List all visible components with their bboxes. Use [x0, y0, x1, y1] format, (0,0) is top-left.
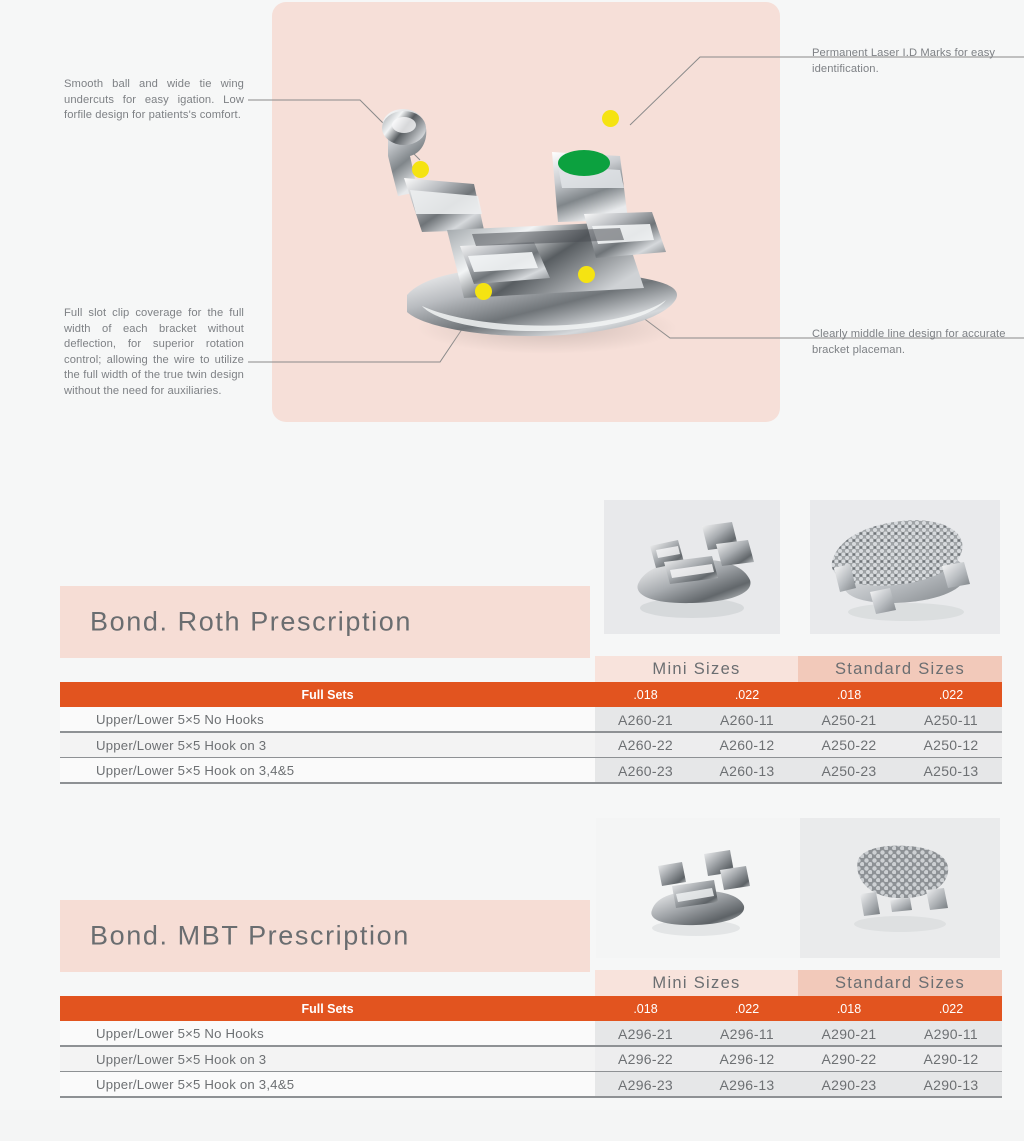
cell-std-018: A250-21	[798, 707, 900, 733]
callout-full-slot-clip: Full slot clip coverage for the full wid…	[64, 306, 244, 399]
group-header-standard: Standard Sizes	[798, 656, 1002, 682]
photo-bracket-front-roth	[604, 500, 780, 634]
col-header-full-sets: Full Sets	[60, 996, 595, 1021]
photo-bracket-front-mbt	[596, 818, 800, 958]
photo-bracket-mesh-base-roth	[810, 500, 1000, 634]
hotspot-dot-smooth-ball	[412, 161, 429, 178]
table-column-header-row: Full Sets .018 .022 .018 .022	[60, 996, 1002, 1021]
section-title-bond-roth: Bond. Roth Prescription	[90, 607, 412, 638]
cell-std-022: A250-12	[900, 733, 1002, 759]
table-column-header-row: Full Sets .018 .022 .018 .022	[60, 682, 1002, 707]
cell-mini-022: A260-11	[696, 707, 798, 733]
table-row: Upper/Lower 5×5 No Hooks A260-21 A260-11…	[60, 707, 1002, 733]
col-header-std-018: .018	[798, 682, 900, 707]
cell-std-018: A250-23	[798, 758, 900, 784]
cell-std-018: A290-21	[798, 1021, 900, 1047]
row-label: Upper/Lower 5×5 Hook on 3,4&5	[60, 1072, 595, 1098]
cell-mini-018: A296-23	[595, 1072, 696, 1098]
col-header-mini-022: .022	[696, 682, 798, 707]
table-bond-mbt: Mini Sizes Standard Sizes Full Sets .018…	[60, 970, 1002, 1098]
callout-smooth-ball: Smooth ball and wide tie wing undercuts …	[64, 77, 244, 124]
col-header-mini-018: .018	[595, 682, 696, 707]
col-header-full-sets: Full Sets	[60, 682, 595, 707]
cell-mini-018: A296-21	[595, 1021, 696, 1047]
col-header-std-018: .018	[798, 996, 900, 1021]
cell-mini-022: A296-11	[696, 1021, 798, 1047]
row-label: Upper/Lower 5×5 Hook on 3	[60, 1047, 595, 1073]
callout-laser-id: Permanent Laser I.D Marks for easy ident…	[812, 46, 1012, 77]
hotspot-dot-full-slot-clip	[475, 283, 492, 300]
cell-std-018: A290-22	[798, 1047, 900, 1073]
col-header-std-022: .022	[900, 996, 1002, 1021]
hotspot-dot-laser-id	[602, 110, 619, 127]
photo-bracket-mesh-base-mbt	[800, 818, 1000, 958]
table-row: Upper/Lower 5×5 Hook on 3 A260-22 A260-1…	[60, 733, 1002, 759]
table-group-header-row: Mini Sizes Standard Sizes	[60, 656, 1002, 682]
catalog-page: Smooth ball and wide tie wing undercuts …	[0, 0, 1024, 1141]
row-label: Upper/Lower 5×5 No Hooks	[60, 707, 595, 733]
cell-std-022: A250-11	[900, 707, 1002, 733]
table-row: Upper/Lower 5×5 Hook on 3 A296-22 A296-1…	[60, 1047, 1002, 1073]
callout-middle-line: Clearly middle line design for accurate …	[812, 327, 1018, 358]
cell-mini-018: A260-23	[595, 758, 696, 784]
cell-mini-022: A296-13	[696, 1072, 798, 1098]
group-header-mini: Mini Sizes	[595, 970, 798, 996]
group-header-standard: Standard Sizes	[798, 970, 1002, 996]
title-band-bond-mbt: Bond. MBT Prescription	[60, 900, 590, 972]
row-label: Upper/Lower 5×5 Hook on 3,4&5	[60, 758, 595, 784]
col-header-mini-018: .018	[595, 996, 696, 1021]
cell-std-022: A250-13	[900, 758, 1002, 784]
row-label: Upper/Lower 5×5 Hook on 3	[60, 733, 595, 759]
col-header-std-022: .022	[900, 682, 1002, 707]
cell-mini-018: A260-21	[595, 707, 696, 733]
table-group-header-row: Mini Sizes Standard Sizes	[60, 970, 1002, 996]
cell-mini-022: A296-12	[696, 1047, 798, 1073]
cell-std-022: A290-12	[900, 1047, 1002, 1073]
cell-mini-018: A296-22	[595, 1047, 696, 1073]
table-row: Upper/Lower 5×5 Hook on 3,4&5 A260-23 A2…	[60, 758, 1002, 784]
cell-mini-022: A260-13	[696, 758, 798, 784]
hotspot-dot-middle-line	[578, 266, 595, 283]
table-bond-roth: Mini Sizes Standard Sizes Full Sets .018…	[60, 656, 1002, 784]
cell-std-022: A290-11	[900, 1021, 1002, 1047]
cell-std-022: A290-13	[900, 1072, 1002, 1098]
cell-std-018: A290-23	[798, 1072, 900, 1098]
col-header-mini-022: .022	[696, 996, 798, 1021]
table-row: Upper/Lower 5×5 No Hooks A296-21 A296-11…	[60, 1021, 1002, 1047]
cell-std-018: A250-22	[798, 733, 900, 759]
row-label: Upper/Lower 5×5 No Hooks	[60, 1021, 595, 1047]
cell-mini-022: A260-12	[696, 733, 798, 759]
group-header-mini: Mini Sizes	[595, 656, 798, 682]
title-band-bond-roth: Bond. Roth Prescription	[60, 586, 590, 658]
cell-mini-018: A260-22	[595, 733, 696, 759]
bracket-illustration	[352, 80, 722, 370]
table-row: Upper/Lower 5×5 Hook on 3,4&5 A296-23 A2…	[60, 1072, 1002, 1098]
section-title-bond-mbt: Bond. MBT Prescription	[90, 921, 410, 952]
